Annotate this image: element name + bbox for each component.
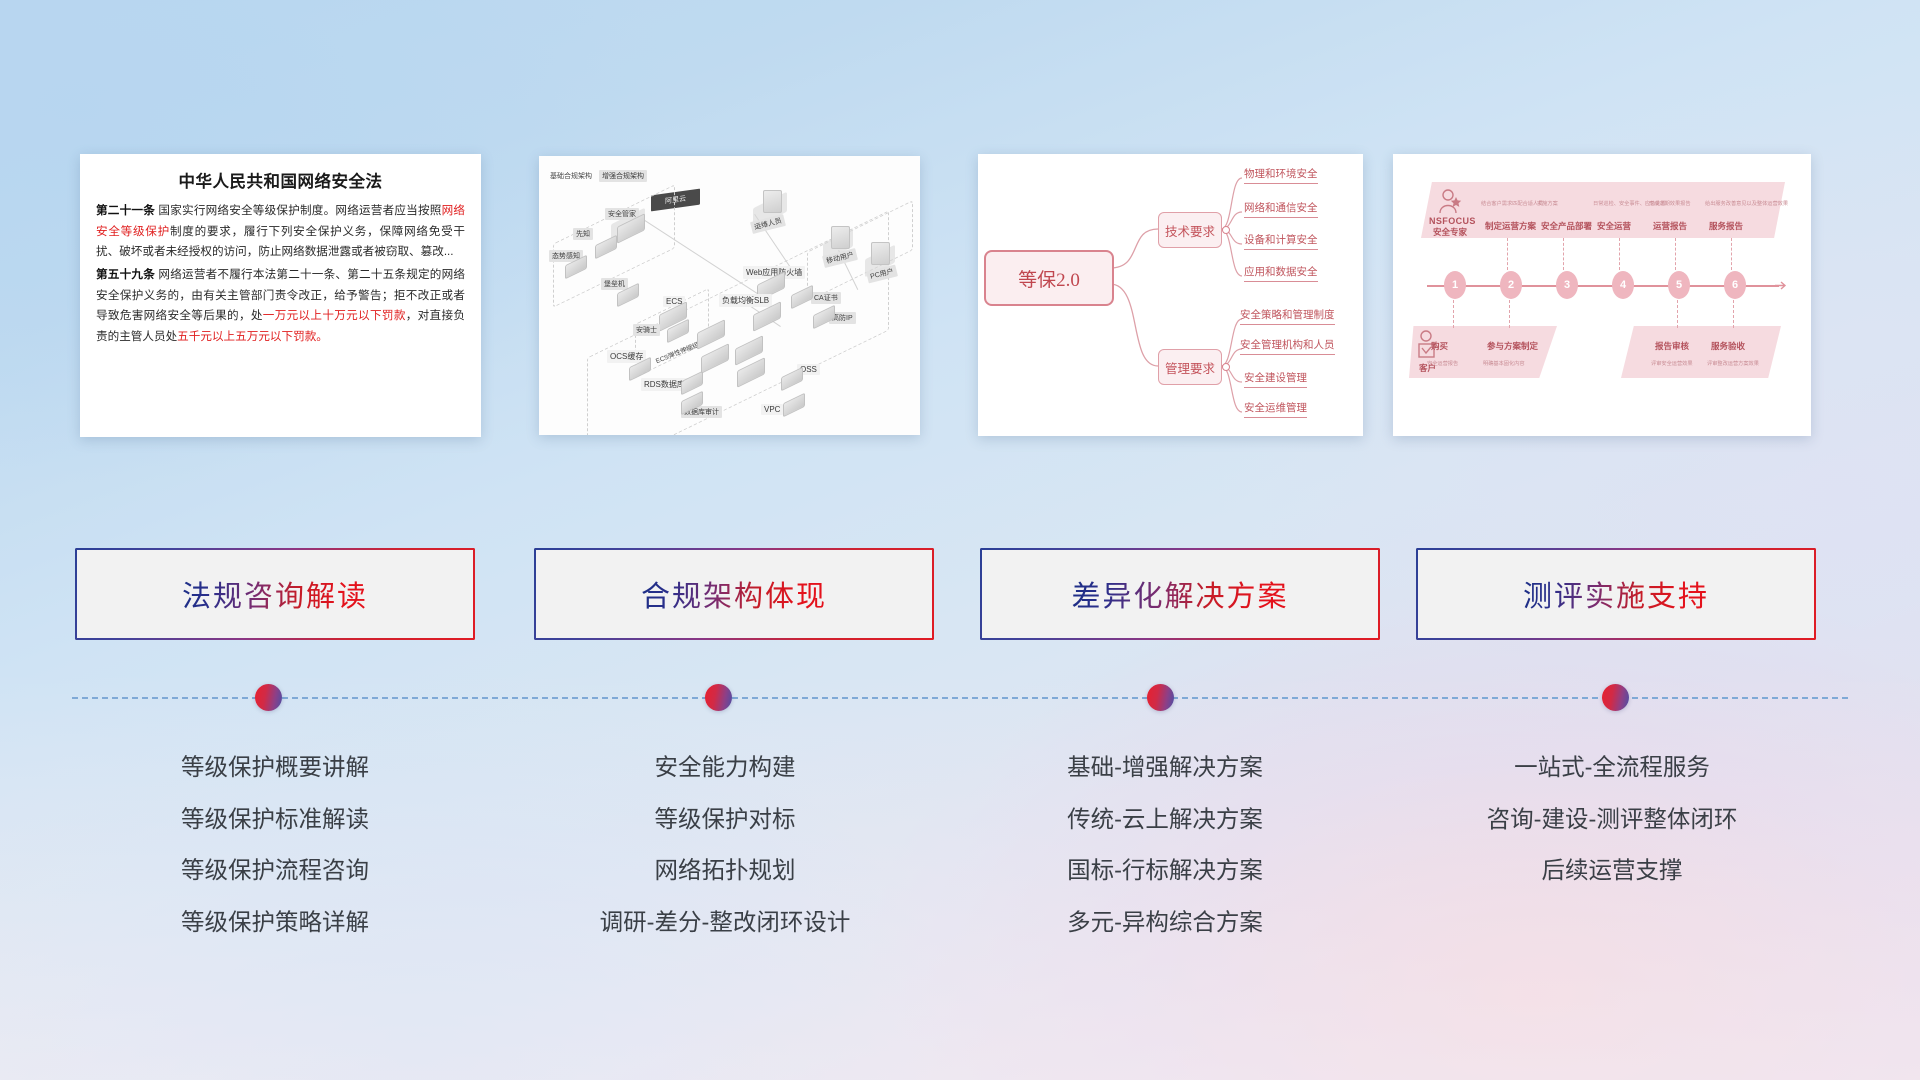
- law-card-title: 中华人民共和国网络安全法: [96, 168, 465, 192]
- arch-node-label-ca: CA证书: [811, 292, 841, 304]
- card-law-text: 中华人民共和国网络安全法 第二十一条 国家实行网络安全等级保护制度。网络运营者应…: [80, 154, 481, 437]
- mindmap-canvas: 等保2.0 技术要求 管理要求 物理和环境安全 网络和通信安全 设备和计算安全 …: [978, 154, 1363, 436]
- process-bottom-sub-5: 评审安全运营效果: [1651, 360, 1693, 367]
- process-bottom-connector-2: [1509, 300, 1511, 328]
- detail-item: 等级保护概要讲解: [181, 756, 369, 780]
- mindmap-leaf-t3: 设备和计算安全: [1244, 232, 1318, 250]
- mindmap-leaf-t2: 网络和通信安全: [1244, 200, 1318, 218]
- process-bottom-connector-6: [1733, 300, 1735, 328]
- process-canvas: NSFOCUS 安全专家 客户 1购买安全运营报告2制定运营方案结合客户需求匹配…: [1393, 154, 1811, 436]
- banner-label: 测评实施支持: [1523, 573, 1709, 615]
- arch-node-vpc: [783, 393, 805, 418]
- arch-node-mobile: [831, 226, 850, 249]
- architecture-canvas: 基础合规架构 增强合规架构 阿里云 安全管家 先知 态势感知 堡垒机 ECS: [539, 156, 920, 435]
- banner-1[interactable]: 法规咨询解读: [75, 548, 475, 640]
- process-bottom-label-1: 购买: [1431, 340, 1448, 352]
- law-article-1: 第二十一条 国家实行网络安全等级保护制度。网络运营者应当按照网络安全等级保护制度…: [96, 201, 465, 263]
- detail-item: 一站式-全流程服务: [1487, 756, 1738, 780]
- mindmap-leaf-m2: 安全管理机构和人员: [1240, 337, 1335, 355]
- process-top-sub-5: 形成定期效果报告: [1649, 200, 1691, 207]
- arch-node-label-xianzhi: 先知: [573, 228, 593, 240]
- process-top-label-3: 安全产品部署: [1541, 220, 1592, 232]
- process-bottom-label-5: 报告审核: [1655, 340, 1689, 352]
- process-top-label-2: 制定运营方案: [1485, 220, 1536, 232]
- process-bottom-sub-2: 明确基本固化内容: [1483, 360, 1525, 367]
- law-article-number: 第二十一条: [96, 204, 155, 217]
- card-mindmap: 等保2.0 技术要求 管理要求 物理和环境安全 网络和通信安全 设备和计算安全 …: [978, 154, 1363, 436]
- process-top-sub-2: 结合客户需求匹配合适人员: [1481, 200, 1543, 207]
- detail-column-3: 基础-增强解决方案传统-云上解决方案国标-行标解决方案多元-异构综合方案: [1067, 756, 1263, 934]
- mindmap-leaf-m3: 安全建设管理: [1244, 370, 1307, 388]
- process-top-connector-2: [1507, 238, 1509, 270]
- process-top-sub-3: 实施方案: [1537, 200, 1558, 207]
- process-top-sub-6: 给出服务改善意见以及整体运营效果: [1705, 200, 1788, 207]
- detail-item: 等级保护策略详解: [181, 911, 369, 935]
- law-highlight-text: 一万元以上十万元以下罚款: [263, 309, 406, 322]
- process-bottom-connector-5: [1677, 300, 1679, 328]
- detail-item: 国标-行标解决方案: [1067, 859, 1263, 883]
- process-top-label-6: 服务报告: [1709, 220, 1743, 232]
- arch-node-label-slb: 负载均衡SLB: [719, 294, 772, 307]
- process-bottom-sub-6: 评审整改运营方案效果: [1707, 360, 1759, 367]
- arch-link-1: [644, 220, 760, 296]
- process-bottom-band-right: [1621, 326, 1781, 378]
- process-top-label-5: 运营报告: [1653, 220, 1687, 232]
- mindmap-dot-mgmt: [1222, 363, 1230, 371]
- timeline-dot-2[interactable]: [705, 684, 732, 711]
- timeline-dot-1[interactable]: [255, 684, 282, 711]
- detail-item: 安全能力构建: [600, 756, 851, 780]
- arch-node-ops: [763, 190, 782, 213]
- detail-item: 调研-差分-整改闭环设计: [600, 911, 851, 935]
- process-axis-arrow-icon: [1775, 279, 1789, 292]
- law-article-number: 第五十九条: [96, 268, 155, 281]
- banner-3[interactable]: 差异化解决方案: [980, 548, 1380, 640]
- detail-item: 后续运营支撑: [1487, 859, 1738, 883]
- mindmap-leaf-t1: 物理和环境安全: [1244, 166, 1318, 184]
- detail-item: 咨询-建设-测评整体闭环: [1487, 808, 1738, 832]
- card-process-timeline: NSFOCUS 安全专家 客户 1购买安全运营报告2制定运营方案结合客户需求匹配…: [1393, 154, 1811, 436]
- detail-column-2: 安全能力构建等级保护对标网络拓扑规划调研-差分-整改闭环设计: [600, 756, 851, 934]
- banner-2[interactable]: 合规架构体现: [534, 548, 934, 640]
- detail-column-4: 一站式-全流程服务咨询-建设-测评整体闭环后续运营支撑: [1487, 756, 1738, 883]
- detail-column-1: 等级保护概要讲解等级保护标准解读等级保护流程咨询等级保护策略详解: [181, 756, 369, 934]
- law-card-body: 第二十一条 国家实行网络安全等级保护制度。网络运营者应当按照网络安全等级保护制度…: [96, 201, 465, 347]
- mindmap-branch-tech: 技术要求: [1158, 212, 1222, 248]
- detail-item: 传统-云上解决方案: [1067, 808, 1263, 832]
- arch-node-label-vpc: VPC: [761, 404, 783, 415]
- process-top-label-4: 安全运营: [1597, 220, 1631, 232]
- detail-item: 等级保护对标: [600, 808, 851, 832]
- process-bottom-connector-1: [1453, 300, 1455, 328]
- mindmap-root: 等保2.0: [984, 250, 1114, 306]
- law-body-text: 国家实行网络安全等级保护制度。网络运营者应当按照: [155, 204, 442, 217]
- arch-node-label-baoleiji: 堡垒机: [601, 278, 628, 290]
- timeline-dot-3[interactable]: [1147, 684, 1174, 711]
- banner-label: 合规架构体现: [641, 573, 827, 615]
- process-top-connector-3: [1563, 238, 1565, 270]
- card-architecture-diagram: 基础合规架构 增强合规架构 阿里云 安全管家 先知 态势感知 堡垒机 ECS: [539, 156, 920, 435]
- process-top-connector-4: [1619, 238, 1621, 270]
- arch-node-label-anqishi: 安骑士: [633, 324, 660, 336]
- detail-item: 等级保护流程咨询: [181, 859, 369, 883]
- arch-node-pc: [871, 242, 890, 265]
- law-article-2: 第五十九条 网络运营者不履行本法第二十一条、第二十五条规定的网络安全保护义务的，…: [96, 265, 465, 348]
- detail-item: 网络拓扑规划: [600, 859, 851, 883]
- mindmap-leaf-m1: 安全策略和管理制度: [1240, 307, 1335, 325]
- process-step-bubble-6[interactable]: 6: [1724, 271, 1746, 299]
- timeline-dashed-line: [72, 697, 1848, 699]
- timeline-dot-4[interactable]: [1602, 684, 1629, 711]
- process-step-bubble-4[interactable]: 4: [1612, 271, 1634, 299]
- banner-label: 差异化解决方案: [1071, 573, 1288, 615]
- process-bottom-label-6: 服务验收: [1711, 340, 1745, 352]
- mindmap-leaf-m4: 安全运维管理: [1244, 400, 1307, 418]
- mindmap-branch-mgmt: 管理要求: [1158, 349, 1222, 385]
- process-top-connector-5: [1675, 238, 1677, 270]
- detail-item: 等级保护标准解读: [181, 808, 369, 832]
- security-expert-icon: [1437, 188, 1463, 216]
- detail-item: 多元-异构综合方案: [1067, 911, 1263, 935]
- law-highlight-text: 五千元以上五万元以下罚款。: [177, 330, 328, 343]
- banner-label: 法规咨询解读: [182, 573, 368, 615]
- process-expert-role: 安全专家: [1433, 226, 1467, 238]
- process-bottom-label-2: 参与方案制定: [1487, 340, 1538, 352]
- process-expert-name: NSFOCUS: [1429, 216, 1476, 226]
- process-step-bubble-3[interactable]: 3: [1556, 271, 1578, 299]
- arch-tab-basic: 基础合规架构: [547, 170, 595, 182]
- process-top-connector-6: [1731, 238, 1733, 270]
- process-step-bubble-1[interactable]: 1: [1444, 271, 1466, 299]
- process-step-bubble-2[interactable]: 2: [1500, 271, 1522, 299]
- banner-4[interactable]: 测评实施支持: [1416, 548, 1816, 640]
- detail-item: 基础-增强解决方案: [1067, 756, 1263, 780]
- process-bottom-sub-1: 安全运营报告: [1427, 360, 1458, 367]
- arch-tab-enhanced: 增强合规架构: [599, 170, 647, 182]
- process-step-bubble-5[interactable]: 5: [1668, 271, 1690, 299]
- mindmap-leaf-t4: 应用和数据安全: [1244, 264, 1318, 282]
- mindmap-dot-tech: [1222, 226, 1230, 234]
